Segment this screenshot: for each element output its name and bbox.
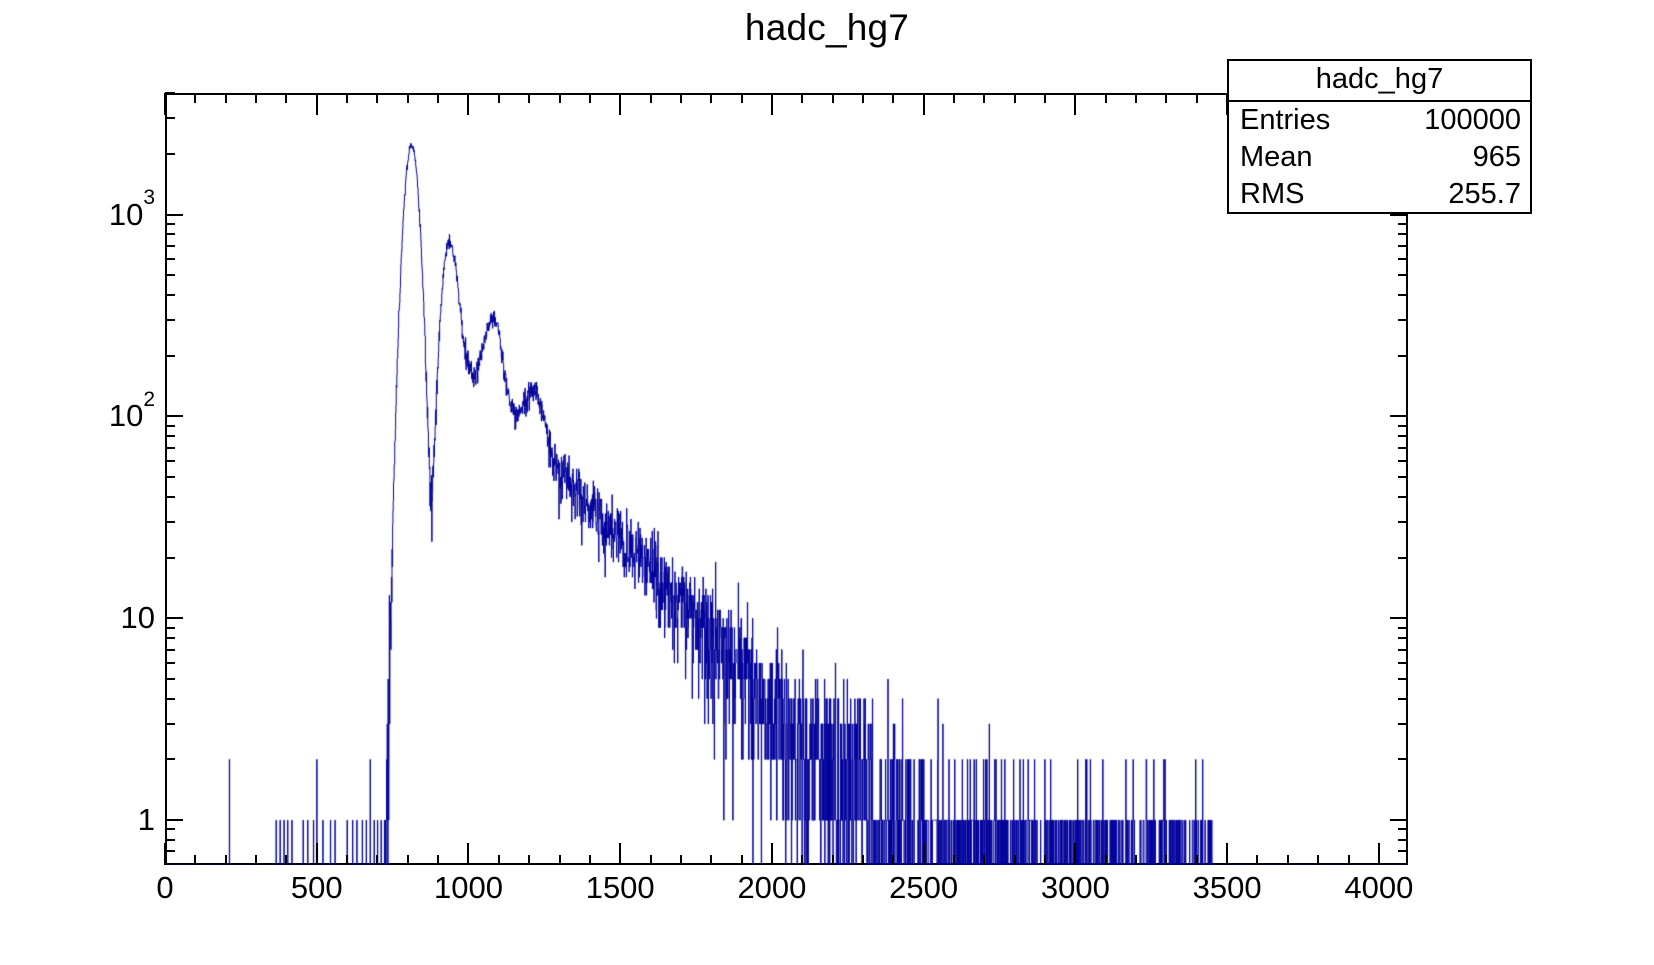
y-tick-minor [165,496,175,498]
x-tick-minor [285,855,287,865]
y-tick-major [165,617,183,619]
x-tick-minor [437,93,439,103]
y-tick-minor [165,758,175,760]
y-tick-minor [1398,223,1408,225]
y-tick-minor [165,435,175,437]
x-tick-minor [376,855,378,865]
x-tick-minor [650,93,652,103]
x-tick-minor [589,93,591,103]
y-tick-minor [1398,425,1408,427]
y-tick-minor [1398,496,1408,498]
x-tick-minor [346,855,348,865]
y-tick-minor [165,698,175,700]
x-tick-minor [983,93,985,103]
x-tick-major [923,93,925,115]
x-tick-minor [559,855,561,865]
x-tick-minor [862,93,864,103]
stats-value: 100000 [1424,102,1521,139]
y-tick-minor [1398,557,1408,559]
y-tick-minor [1398,758,1408,760]
stats-box[interactable]: hadc_hg7 Entries100000Mean965RMS255.7 [1227,59,1532,214]
x-tick-minor [983,855,985,865]
x-tick-label: 1000 [408,872,528,903]
y-tick-minor [165,521,175,523]
y-tick-minor [1398,245,1408,247]
y-tick-major [1390,415,1408,417]
x-tick-minor [1044,93,1046,103]
y-tick-minor [165,258,175,260]
x-tick-label: 3500 [1167,872,1287,903]
x-tick-minor [528,855,530,865]
x-tick-minor [1196,855,1198,865]
x-tick-minor [650,855,652,865]
x-tick-major [316,843,318,865]
x-tick-minor [862,855,864,865]
x-tick-minor [346,93,348,103]
y-tick-minor [165,425,175,427]
x-tick-minor [255,855,257,865]
y-tick-minor [165,476,175,478]
y-tick-minor [1398,850,1408,852]
y-tick-minor [165,839,175,841]
histogram-series [165,93,1408,865]
x-tick-label: 0 [105,872,225,903]
root-canvas: hadc_hg7 110102103 050010001500200025003… [0,0,1654,965]
x-tick-major [771,93,773,115]
y-tick-minor [165,153,175,155]
stats-rows: Entries100000Mean965RMS255.7 [1229,102,1530,213]
y-tick-label: 103 [40,199,155,230]
stats-value: 965 [1473,139,1521,176]
x-tick-major [164,843,166,865]
y-tick-minor [165,460,175,462]
y-tick-major [165,415,183,417]
x-tick-minor [528,93,530,103]
x-tick-minor [741,93,743,103]
x-tick-minor [1196,93,1198,103]
x-tick-minor [1165,855,1167,865]
x-tick-minor [559,93,561,103]
y-tick-minor [1398,258,1408,260]
x-tick-minor [1105,93,1107,103]
y-tick-minor [165,649,175,651]
y-tick-minor [165,637,175,639]
x-tick-minor [407,855,409,865]
stats-value: 255.7 [1448,176,1521,213]
x-tick-major [619,93,621,115]
y-tick-major [1390,819,1408,821]
x-tick-minor [1317,855,1319,865]
x-tick-minor [1165,93,1167,103]
y-tick-minor [1398,460,1408,462]
x-tick-major [1074,93,1076,115]
y-tick-label: 10 [40,602,155,633]
x-tick-minor [710,855,712,865]
y-tick-minor [1398,447,1408,449]
y-tick-minor [165,828,175,830]
y-tick-minor [165,245,175,247]
x-tick-minor [225,93,227,103]
x-tick-label: 3000 [1015,872,1135,903]
x-tick-major [316,93,318,115]
x-tick-major [923,843,925,865]
x-tick-label: 2000 [712,872,832,903]
y-tick-minor [165,557,175,559]
y-tick-minor [1398,476,1408,478]
x-tick-minor [710,93,712,103]
x-tick-minor [1105,855,1107,865]
x-tick-major [467,843,469,865]
y-tick-minor [165,274,175,276]
stats-row: RMS255.7 [1229,176,1530,213]
y-tick-minor [165,447,175,449]
y-tick-minor [1398,649,1408,651]
x-tick-label: 500 [257,872,377,903]
y-tick-minor [1398,723,1408,725]
x-tick-minor [1135,93,1137,103]
x-tick-major [771,843,773,865]
x-tick-minor [498,855,500,865]
page-title: hadc_hg7 [0,6,1654,50]
y-tick-minor [1398,233,1408,235]
stats-key: Entries [1240,102,1330,139]
y-tick-minor [1398,637,1408,639]
y-tick-minor [165,223,175,225]
x-tick-minor [680,855,682,865]
y-tick-minor [165,662,175,664]
y-tick-minor [165,319,175,321]
y-tick-minor [165,233,175,235]
x-tick-minor [832,855,834,865]
x-tick-minor [437,855,439,865]
x-tick-minor [589,855,591,865]
x-tick-minor [194,855,196,865]
y-tick-minor [1398,839,1408,841]
stats-row: Entries100000 [1229,102,1530,139]
x-tick-minor [225,855,227,865]
y-tick-minor [1398,662,1408,664]
y-tick-minor [165,678,175,680]
x-tick-minor [1256,855,1258,865]
x-tick-minor [194,93,196,103]
x-tick-minor [892,93,894,103]
x-tick-minor [1287,855,1289,865]
y-tick-minor [1398,319,1408,321]
x-tick-minor [376,93,378,103]
x-tick-label: 1500 [560,872,680,903]
y-tick-minor [165,355,175,357]
x-tick-minor [832,93,834,103]
y-tick-minor [165,117,175,119]
x-tick-minor [1348,855,1350,865]
x-tick-minor [953,855,955,865]
y-tick-minor [1398,698,1408,700]
y-tick-minor [165,850,175,852]
x-tick-minor [1044,855,1046,865]
x-tick-label: 4000 [1319,872,1439,903]
x-tick-major [1226,843,1228,865]
x-tick-minor [801,93,803,103]
y-tick-minor [165,294,175,296]
stats-row: Mean965 [1229,139,1530,176]
x-tick-minor [892,855,894,865]
y-tick-minor [165,723,175,725]
y-tick-major [165,819,183,821]
y-tick-minor [1398,435,1408,437]
x-tick-minor [1014,93,1016,103]
stats-title: hadc_hg7 [1229,61,1530,102]
y-tick-label: 1 [40,804,155,835]
x-tick-minor [1135,855,1137,865]
stats-key: Mean [1240,139,1313,176]
y-tick-minor [1398,521,1408,523]
x-tick-major [1378,843,1380,865]
x-tick-label: 2500 [864,872,984,903]
x-tick-minor [255,93,257,103]
y-tick-minor [1398,627,1408,629]
y-tick-minor [1398,274,1408,276]
y-tick-minor [165,92,175,94]
y-tick-minor [1398,355,1408,357]
x-tick-minor [498,93,500,103]
y-tick-minor [165,627,175,629]
x-tick-major [619,843,621,865]
x-tick-minor [741,855,743,865]
y-tick-major [165,214,183,216]
x-tick-minor [953,93,955,103]
x-tick-major [164,93,166,115]
x-tick-major [1074,843,1076,865]
x-tick-minor [407,93,409,103]
x-tick-minor [285,93,287,103]
y-tick-label: 102 [40,400,155,431]
stats-key: RMS [1240,176,1304,213]
x-tick-minor [680,93,682,103]
y-tick-minor [1398,294,1408,296]
x-tick-minor [801,855,803,865]
x-tick-minor [1014,855,1016,865]
y-tick-minor [1398,678,1408,680]
y-tick-major [1390,617,1408,619]
y-tick-minor [1398,828,1408,830]
x-tick-major [467,93,469,115]
